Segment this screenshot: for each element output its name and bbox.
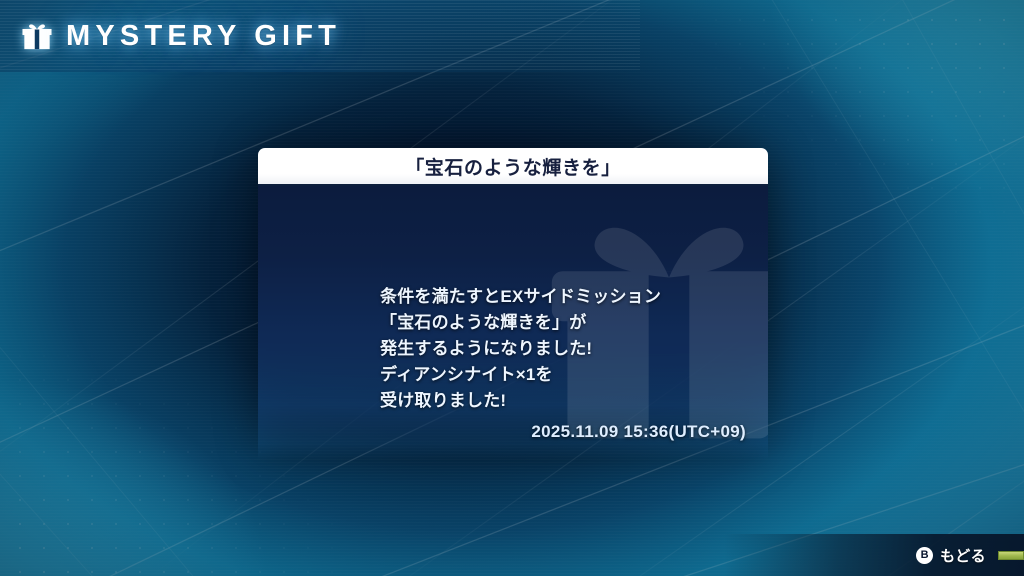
- app-header: MYSTERY GIFT: [0, 0, 640, 72]
- mystery-gift-screen: MYSTERY GIFT 「宝石のような輝きを」 条件を満たすとEXサイドミッシ…: [0, 0, 1024, 576]
- footer-bar: B もどる: [724, 534, 1024, 576]
- dialog-message: 条件を満たすとEXサイドミッション 「宝石のような輝きを」が 発生するようになり…: [380, 284, 661, 413]
- message-line: 受け取りました!: [380, 388, 661, 413]
- b-button-letter: B: [921, 550, 929, 561]
- gift-message-dialog: 「宝石のような輝きを」 条件を満たすとEXサイドミッション 「宝石のような輝きを…: [258, 148, 768, 460]
- message-line: 条件を満たすとEXサイドミッション: [380, 284, 661, 309]
- back-button-label: もどる: [940, 545, 986, 566]
- gift-icon: [22, 21, 52, 51]
- message-line: ディアンシナイト×1を: [380, 362, 661, 387]
- dialog-body: 条件を満たすとEXサイドミッション 「宝石のような輝きを」が 発生するようになり…: [258, 186, 768, 460]
- back-button[interactable]: B もどる: [916, 545, 986, 566]
- message-line: 発生するようになりました!: [380, 336, 661, 361]
- message-line: 「宝石のような輝きを」が: [380, 310, 661, 335]
- home-bar-indicator: [998, 551, 1024, 560]
- gift-timestamp: 2025.11.09 15:36(UTC+09): [531, 422, 746, 442]
- dialog-title: 「宝石のような輝きを」: [405, 153, 621, 180]
- b-button-icon: B: [916, 547, 933, 564]
- dialog-header: 「宝石のような輝きを」: [258, 148, 768, 186]
- page-title: MYSTERY GIFT: [66, 20, 341, 53]
